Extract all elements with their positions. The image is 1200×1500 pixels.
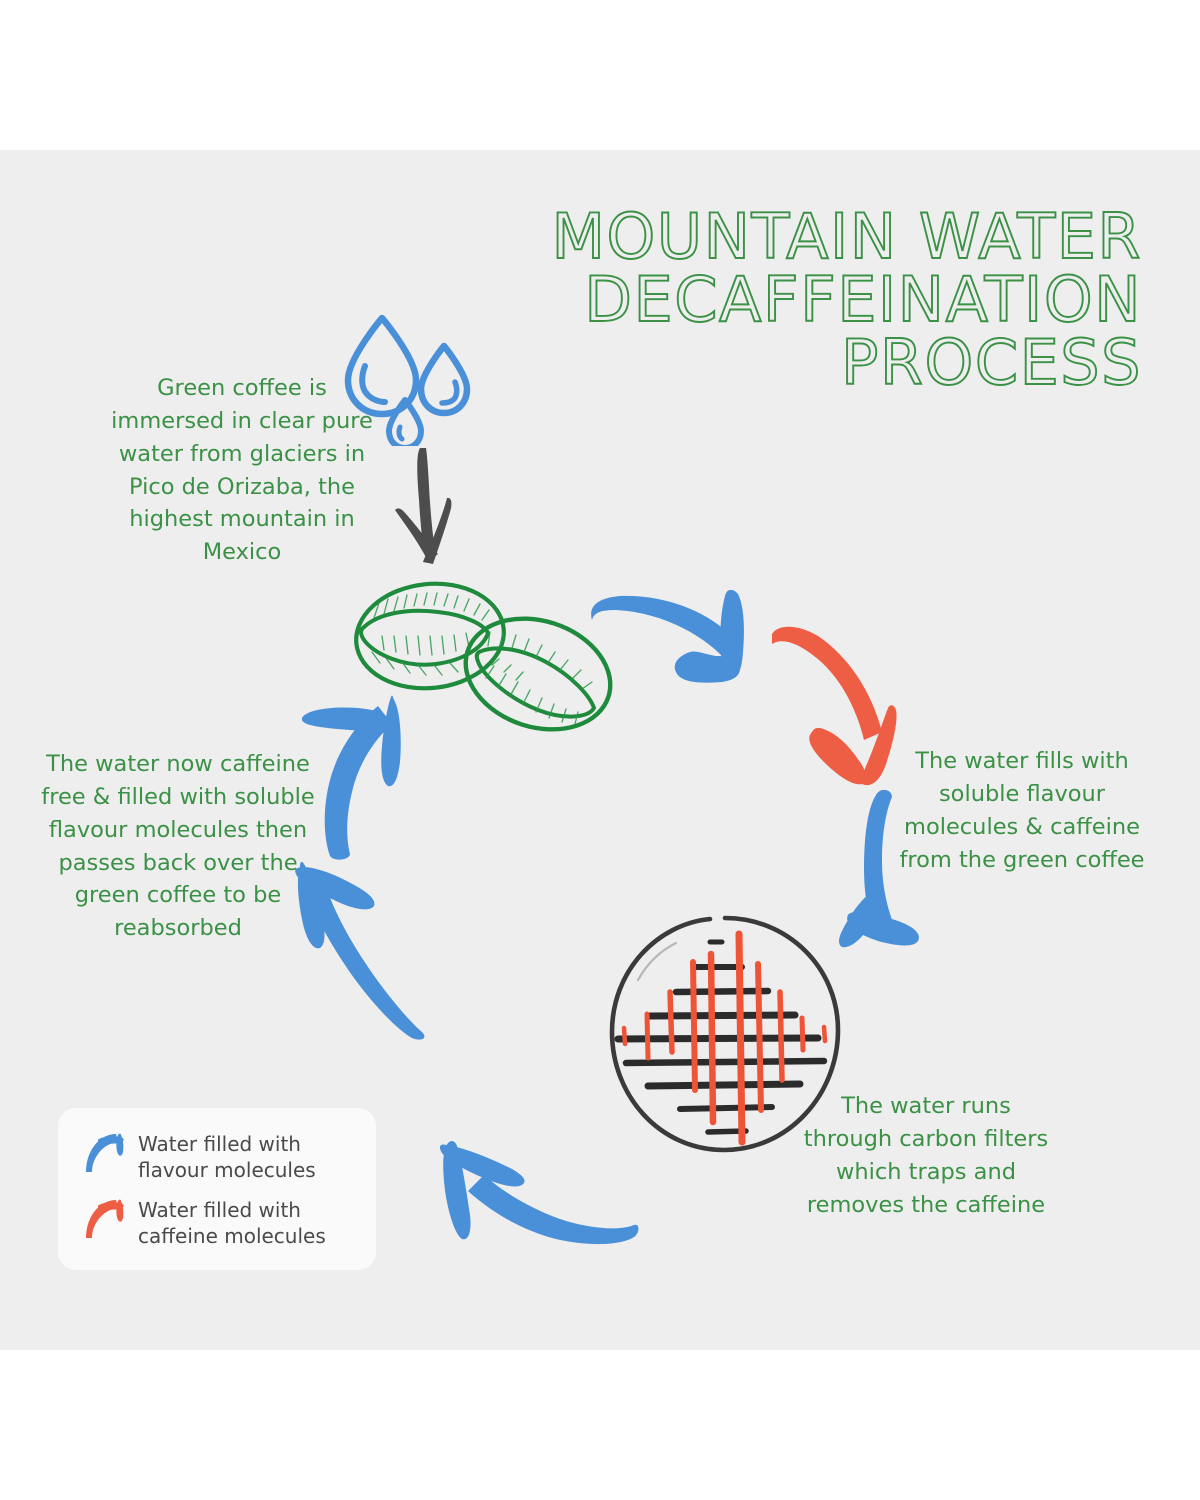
legend-label-flavour: Water filled with flavour molecules [138,1128,366,1183]
title-line-3: PROCESS [462,331,1142,394]
legend-item-flavour: Water filled with flavour molecules [80,1128,366,1183]
infographic-canvas: MOUNTAIN WATER DECAFFEINATION PROCESS [0,150,1200,1350]
step-1-text: Green coffee is immersed in clear pure w… [108,372,376,569]
step-2-text: The water fills with soluble flavour mol… [893,745,1151,876]
dark-down-arrow-icon [386,440,466,570]
red-curved-arrow-icon [80,1194,126,1240]
title-line-1: MOUNTAIN WATER [462,205,1142,268]
blue-arrow-beans-to-right [586,590,786,715]
step-3-text: The water runs through carbon filters wh… [800,1090,1052,1221]
step-4-text: The water now caffeine free & filled wit… [38,748,318,945]
legend-item-caffeine: Water filled with caffeine molecules [80,1194,366,1249]
title-line-2: DECAFFEINATION [462,268,1142,331]
blue-arrow-filter-to-left [420,1135,640,1245]
page-title: MOUNTAIN WATER DECAFFEINATION PROCESS [462,205,1142,395]
legend-card: Water filled with flavour molecules Wate… [58,1108,376,1270]
red-arrow-right-down [770,620,910,790]
blue-curved-arrow-icon [80,1128,126,1174]
legend-label-caffeine: Water filled with caffeine molecules [138,1194,366,1249]
